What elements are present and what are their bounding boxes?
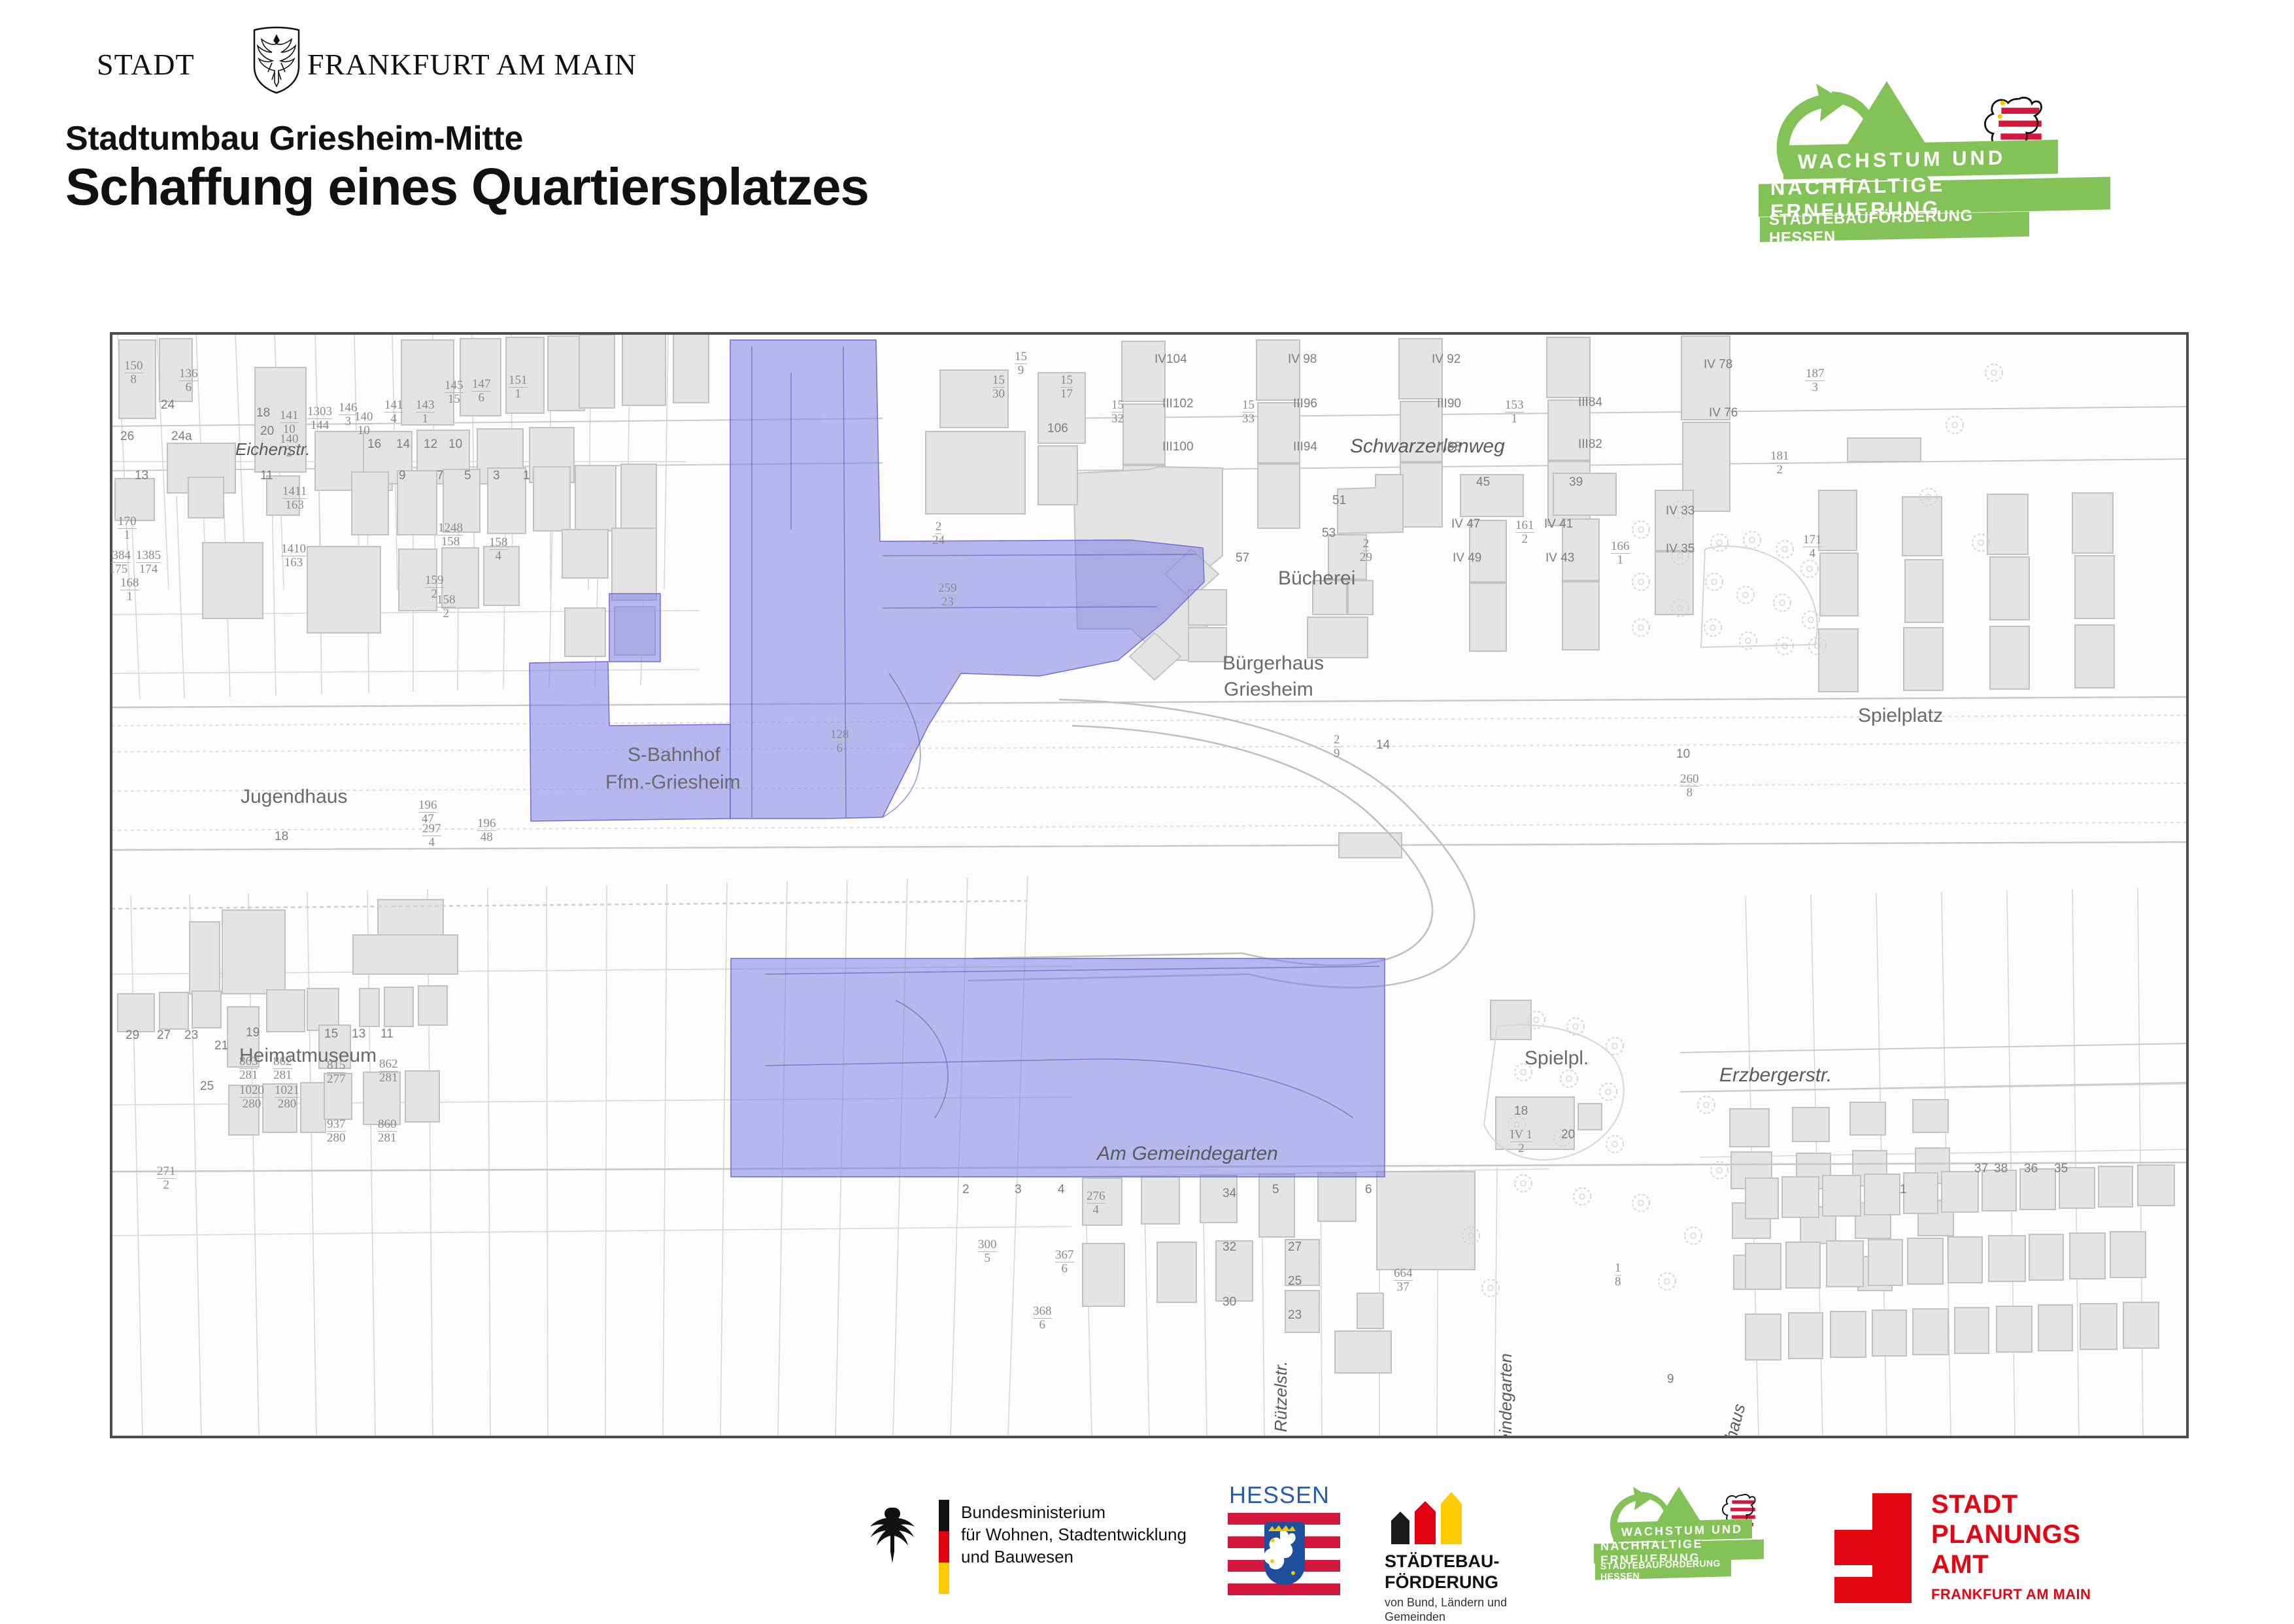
bmwsb-line2: für Wohnen, Stadtentwicklung (961, 1523, 1187, 1546)
parcel-label: 1681 (120, 577, 139, 603)
parcel-label: 36 (2024, 1162, 2038, 1176)
parcel-label: 1385174 (136, 549, 161, 576)
parcel-label: 57 (1236, 552, 1249, 565)
street-label-erzbergerstr: Erzbergerstr. (1719, 1064, 1832, 1087)
parcel-label: IV 47 (1451, 518, 1480, 531)
poi-label-s-bahnhof: S-Bahnhof (628, 744, 720, 766)
parcel-label: III90 (1437, 398, 1461, 411)
parcel-label: 5 (1272, 1183, 1279, 1196)
parcel-label: III100 (1162, 441, 1194, 454)
parcel-label: 1661 (1611, 540, 1630, 567)
parcel-label: 3 (493, 469, 500, 482)
parcel-label: 1517 (1060, 374, 1073, 401)
city-logo: STADT FRANKFURT AM MAIN (97, 37, 515, 85)
parcel-label: 25 (200, 1080, 214, 1093)
parcel-label: 1714 (1803, 533, 1822, 560)
german-flag-bar-icon (939, 1500, 949, 1594)
spa-line2: PLANUNGS (1931, 1519, 2080, 1549)
parcel-label: 1384175 (110, 549, 131, 576)
parcel-label: 860281 (378, 1118, 397, 1145)
parcel-label: 18 (256, 407, 270, 420)
poi-label-spielpl: Spielpl. (1525, 1047, 1589, 1070)
poi-label-spielplatz: Spielplatz (1858, 705, 1943, 727)
frankfurt-eagle-crest-icon (252, 26, 301, 94)
parcel-label: 24a (171, 430, 192, 443)
parcel-label: 29 (126, 1029, 139, 1042)
parcel-label: 35 (2054, 1162, 2068, 1176)
parcel-label: 1411163 (282, 485, 307, 512)
parcel-label: IV104 (1155, 353, 1187, 366)
parcel-label: 12 (424, 438, 437, 451)
street-label-schwarzerlenweg: Schwarzerlenweg (1350, 435, 1505, 458)
logo-bmwsb: Bundesministerium für Wohnen, Stadtentwi… (866, 1475, 1206, 1621)
hessen-lion-shield-icon (1264, 1522, 1305, 1585)
parcel-label: 7 (437, 469, 444, 482)
site-map[interactable]: Eichenstr. Schwarzerlenweg Erzbergerstr.… (110, 332, 2189, 1438)
parcel-label: 18 (1615, 1262, 1621, 1289)
parcel-label: 1303144 (307, 405, 332, 432)
parcel-label: 229 (1360, 537, 1372, 564)
parcel-label: 27 (157, 1029, 171, 1042)
parcel-label: 1701 (118, 515, 137, 542)
spa-subtitle: FRANKFURT AM MAIN (1931, 1586, 2091, 1603)
page-title: Schaffung eines Quartiersplatzes (65, 157, 869, 217)
city-logo-word-frankfurt: FRANKFURT AM MAIN (307, 47, 637, 82)
program-footer-line3: STÄDTEBAUFÖRDERUNG HESSEN (1595, 1559, 1731, 1580)
parcel-label: 66437 (1394, 1267, 1413, 1294)
parcel-label: 30 (1223, 1296, 1236, 1309)
parcel-label: 20 (1561, 1128, 1575, 1142)
parcel-label: 26 (120, 430, 134, 443)
parcel-label: 25 (1288, 1275, 1302, 1288)
parcel-label: 10 (448, 438, 462, 451)
parcel-label: 815277 (327, 1059, 346, 1086)
poi-label-jugendhaus: Jugendhaus (241, 786, 347, 808)
parcel-label: 1414 (384, 399, 403, 426)
parcel-label: IV 78 (1704, 358, 1732, 371)
parcel-label: 159 (1015, 350, 1027, 377)
parcel-label: 106 (1047, 422, 1068, 435)
three-houses-icon (1386, 1491, 1475, 1544)
parcel-label: 45 (1476, 476, 1490, 489)
parcel-label: III96 (1293, 398, 1317, 411)
parcel-label: 14 (396, 438, 410, 451)
parcel-label: 18 (275, 830, 288, 843)
staedtebau-sub2: Gemeinden (1385, 1610, 1507, 1624)
parcel-label: 34 (1223, 1187, 1236, 1200)
parcel-label: IV 43 (1545, 552, 1574, 565)
parcel-label: IV 33 (1666, 505, 1695, 518)
parcel-label: 19 (246, 1026, 260, 1040)
parcel-label: 39 (1569, 476, 1583, 489)
parcel-label: 1402 (280, 433, 299, 460)
stadtplanungsamt-mark-icon (1834, 1493, 1912, 1603)
parcel-label: 1021280 (275, 1084, 299, 1111)
parcel-label: III84 (1578, 396, 1602, 409)
parcel-label: 862281 (273, 1055, 292, 1082)
parcel-label: 4 (1058, 1183, 1065, 1196)
bmwsb-line1: Bundesministerium (961, 1501, 1187, 1523)
parcel-label: 3676 (1055, 1249, 1074, 1276)
parcel-label: IV 41 (1544, 518, 1573, 531)
poi-label-heimatmuseum: Heimatmuseum (239, 1045, 377, 1067)
logo-staedtebaufoerderung: STÄDTEBAU- FÖRDERUNG von Bund, Ländern u… (1375, 1475, 1559, 1621)
parcel-label: 2 (962, 1183, 970, 1196)
parcel-label: 24 (161, 399, 175, 412)
parcel-label: III102 (1162, 398, 1194, 411)
poi-label-ffm-griesheim: Ffm.-Griesheim (605, 771, 741, 794)
street-label-am-gemeindegarten-2: Am Gemeindegarten (1496, 1353, 1516, 1438)
parcel-label: 18 (1514, 1105, 1528, 1118)
parcel-label: IV 76 (1709, 407, 1738, 420)
parcel-label: 1873 (1806, 367, 1825, 394)
parcel-label: 3 (1015, 1183, 1022, 1196)
parcel-label: 29 (1334, 734, 1340, 760)
parcel-label: 2974 (422, 822, 441, 849)
parcel-label: 1463 (339, 401, 358, 428)
staedtebau-subtext: von Bund, Ländern und Gemeinden (1385, 1595, 1507, 1624)
logo-stadtplanungsamt: STADT PLANUNGS AMT FRANKFURT AM MAIN (1834, 1475, 2122, 1621)
parcel-label: 1511 (509, 374, 528, 401)
program-logo-line3: STÄDTEBAUFÖRDERUNG HESSEN (1760, 212, 2029, 243)
parcel-label: 27 (1288, 1241, 1302, 1254)
parcel-label: 2712 (157, 1165, 176, 1192)
poi-label-buergerhaus: Bürgerhaus (1223, 652, 1324, 675)
parcel-label: 3686 (1033, 1305, 1052, 1332)
parcel-label: IV 98 (1288, 353, 1317, 366)
parcel-label: 1584 (489, 536, 508, 563)
parcel-label: 1020280 (239, 1084, 264, 1111)
parcel-label: 23 (1288, 1309, 1302, 1322)
parcel-label: 1410163 (281, 543, 306, 569)
parcel-label: 862281 (379, 1058, 398, 1085)
parcel-label: 1 (523, 469, 530, 482)
map-canvas (111, 333, 2187, 1437)
spa-line1: STADT (1931, 1489, 2080, 1519)
parcel-label: 10 (1676, 748, 1690, 761)
parcel-label: 3005 (978, 1238, 997, 1265)
parcel-label: 224 (932, 520, 945, 547)
poi-label-buecherei: Bücherei (1278, 567, 1355, 590)
bmwsb-line3: und Bauwesen (961, 1546, 1187, 1568)
parcel-label: 2764 (1087, 1190, 1105, 1217)
parcel-label: 19648 (477, 817, 496, 844)
parcel-label: 1612 (1515, 519, 1534, 546)
parcel-label: 1476 (472, 378, 491, 405)
parcel-label: 1248158 (438, 522, 463, 549)
parcel-label: 863281 (239, 1055, 258, 1082)
parcel-label: 1286 (830, 728, 849, 755)
parcel-label: 16 (367, 438, 381, 451)
city-logo-word-stadt: STADT (97, 47, 195, 82)
parcel-label: 1531 (1505, 399, 1524, 426)
parcel-label: 9 (399, 469, 406, 482)
parcel-label: 14 (1376, 739, 1390, 752)
parcel-label: 32 (1223, 1241, 1236, 1254)
parcel-label: 1366 (179, 367, 198, 394)
staedtebau-line1: STÄDTEBAU- (1385, 1551, 1500, 1572)
parcel-label: IV 12 (1510, 1128, 1532, 1155)
logo-hessen: HESSEN (1224, 1475, 1355, 1621)
staedtebau-sub1: von Bund, Ländern und (1385, 1595, 1507, 1610)
bundesadler-icon (866, 1504, 922, 1566)
parcel-label: 37 (1974, 1162, 1988, 1176)
parcel-label: 13 (352, 1028, 365, 1041)
spa-line3: AMT (1931, 1549, 2080, 1580)
parcel-label: 1431 (416, 399, 435, 426)
parcel-label: IV 35 (1666, 543, 1695, 556)
parcel-label: 1 (1900, 1183, 1907, 1196)
poi-label-griesheim: Griesheim (1224, 679, 1313, 701)
parcel-label: 53 (1322, 527, 1336, 540)
parcel-label: III94 (1293, 441, 1317, 454)
parcel-label: 937280 (327, 1118, 346, 1145)
logo-program-footer: WACHSTUM UND NACHHALTIGE ERNEUERUNG STÄD… (1568, 1475, 1790, 1621)
funding-footer: Bundesministerium für Wohnen, Stadtentwi… (0, 1475, 2294, 1621)
street-label-obere-ruetzelstr: Obere Rützelstr. (1271, 1361, 1291, 1438)
parcel-label: 23 (184, 1029, 198, 1042)
parcel-label: 1582 (437, 594, 456, 620)
parcel-label: 15 (324, 1028, 338, 1041)
staedtebau-text: STÄDTEBAU- FÖRDERUNG (1385, 1551, 1500, 1593)
street-label-am-gemeindegarten: Am Gemeindegarten (1097, 1143, 1278, 1165)
parcel-label: 38 (1994, 1162, 2008, 1176)
parcel-label: IV 92 (1432, 353, 1460, 366)
parcel-label: 1533 (1242, 399, 1255, 426)
program-logo-header: WACHSTUM UND NACHHALTIGE ERNEUERUNG STÄD… (1759, 65, 2177, 196)
bmwsb-text: Bundesministerium für Wohnen, Stadtentwi… (961, 1501, 1187, 1568)
stadtplanungsamt-text: STADT PLANUNGS AMT (1931, 1489, 2080, 1580)
hessen-wordmark: HESSEN (1229, 1481, 1330, 1509)
parcel-label: 13 (135, 469, 148, 482)
parcel-label: 1530 (992, 374, 1005, 401)
parcel-label: 51 (1332, 494, 1346, 507)
parcel-label: 11 (260, 469, 273, 482)
parcel-label: 9 (1667, 1373, 1674, 1386)
parcel-label: III82 (1578, 438, 1602, 451)
staedtebau-line2: FÖRDERUNG (1385, 1572, 1500, 1593)
parcel-label: 5 (464, 469, 471, 482)
parcel-label: 20 (260, 425, 274, 438)
parcel-label: III88 (1437, 441, 1461, 454)
parcel-label: 14110 (280, 409, 299, 436)
parcel-label: 6 (1365, 1183, 1372, 1196)
parcel-label: 25923 (938, 582, 957, 609)
parcel-label: 14515 (445, 379, 464, 406)
page-subtitle: Stadtumbau Griesheim-Mitte (65, 119, 523, 158)
parcel-label: 2608 (1680, 773, 1699, 800)
street-label-eichenstr: Eichenstr. (235, 439, 311, 460)
parcel-label: IV 49 (1453, 552, 1481, 565)
parcel-label: 1812 (1770, 450, 1789, 477)
parcel-label: 11 (380, 1028, 394, 1041)
parcel-label: 21 (214, 1040, 228, 1053)
parcel-label: 1532 (1111, 399, 1124, 426)
parcel-label: 1508 (124, 360, 143, 386)
